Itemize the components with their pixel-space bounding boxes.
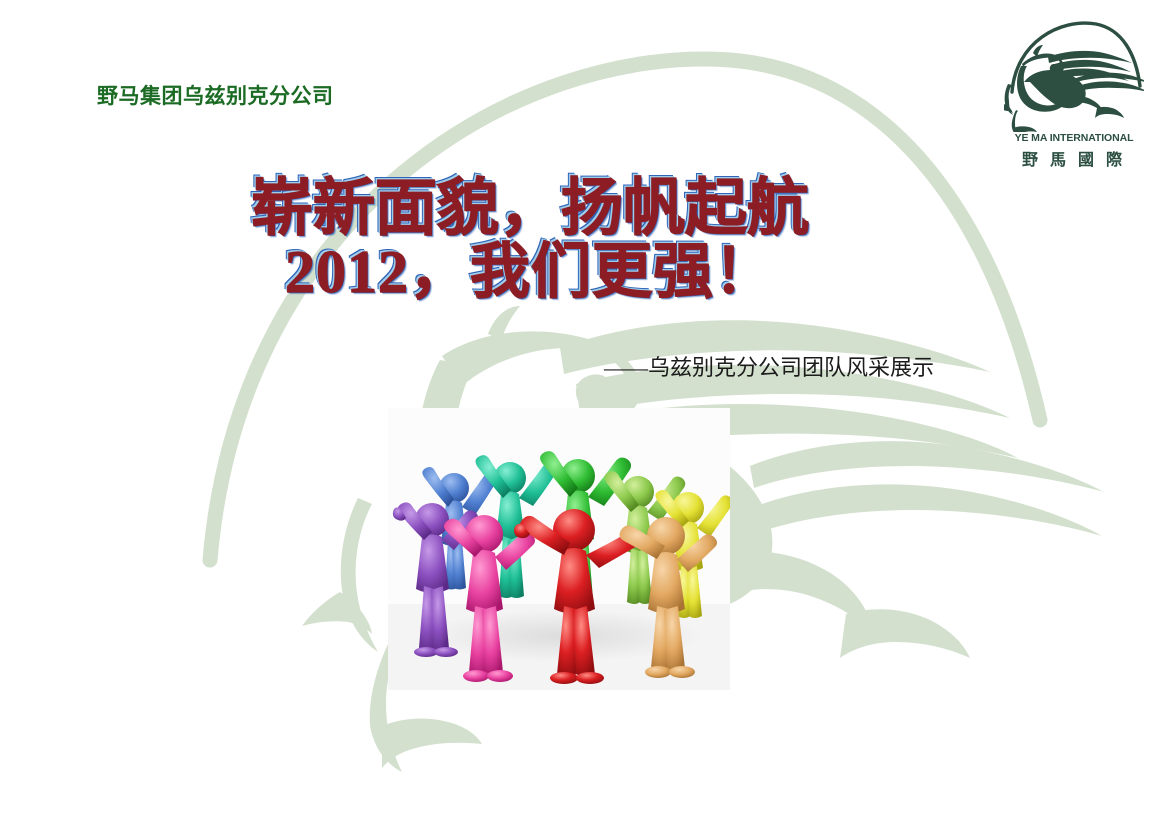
logo-chinese-text: 野 馬 國 際 (1004, 146, 1144, 170)
title-line-2: 2012，我们更强！ (0, 242, 1060, 304)
company-name-header: 野马集团乌兹别克分公司 (97, 80, 334, 110)
galloping-horse-icon (1004, 12, 1144, 132)
presentation-slide: 野马集团乌兹别克分公司 崭新面貌，扬帆起航 2012，我们更强！ ——乌兹别克分… (0, 0, 1169, 827)
team-photo (388, 408, 730, 690)
logo-latin-text: YE MA INTERNATIONAL (1004, 132, 1144, 144)
subtitle-attribution: ——乌兹别克分公司团队风采展示 (604, 350, 934, 382)
title-line-1: 崭新面貌，扬帆起航 (0, 178, 1060, 242)
page-title: 崭新面貌，扬帆起航 2012，我们更强！ (0, 178, 1060, 304)
company-logo: YE MA INTERNATIONAL 野 馬 國 際 (1004, 12, 1144, 174)
